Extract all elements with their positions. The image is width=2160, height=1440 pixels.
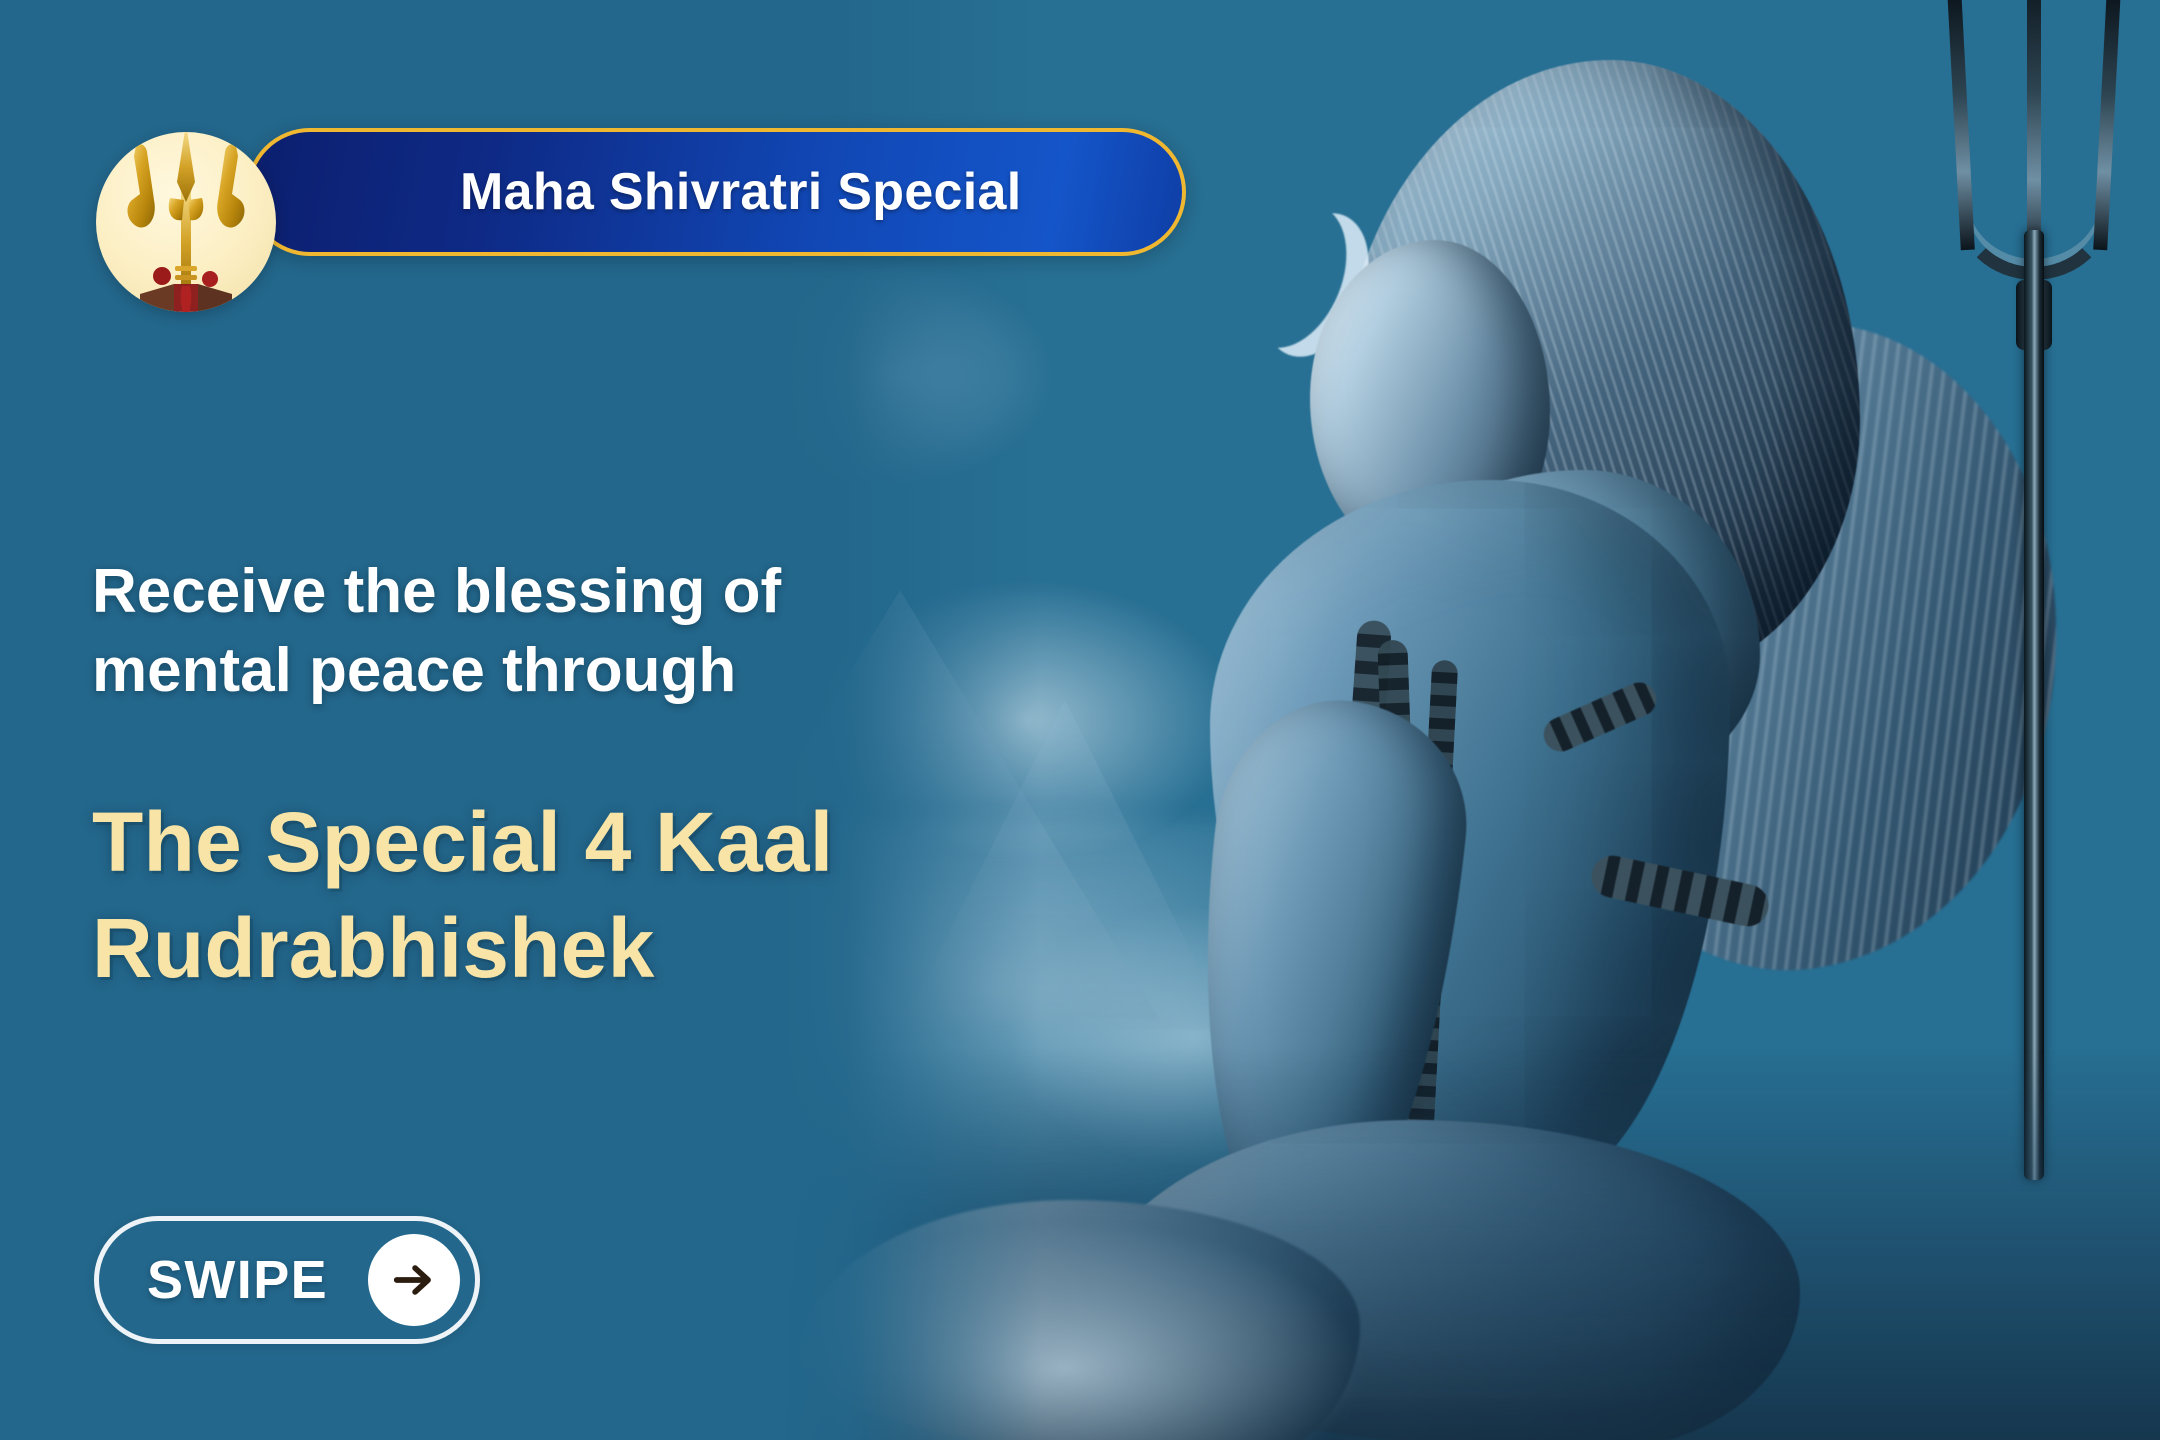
trishul-damru-icon bbox=[96, 132, 276, 312]
trishul-prong bbox=[1947, 0, 1975, 250]
trishul-shaft bbox=[2024, 230, 2044, 1180]
swipe-button-label: SWIPE bbox=[147, 1249, 328, 1311]
badge-label: Maha Shivratri Special bbox=[460, 162, 1022, 222]
kicker-line-2: mental peace through bbox=[92, 631, 972, 710]
headline-line-2: Rudrabhishek bbox=[92, 896, 1112, 1002]
trishul-prong bbox=[2093, 0, 2121, 250]
promo-banner: Maha Shivratri Special bbox=[0, 0, 2160, 1440]
trishul-icon bbox=[1920, 0, 2150, 1180]
kicker-line-1: Receive the blessing of bbox=[92, 552, 972, 631]
arrow-right-icon[interactable] bbox=[368, 1234, 460, 1326]
headline-line-1: The Special 4 Kaal bbox=[92, 790, 1112, 896]
headline-text: The Special 4 Kaal Rudrabhishek bbox=[92, 790, 1112, 1002]
badge-pill: Maha Shivratri Special bbox=[246, 128, 1186, 256]
kicker-text: Receive the blessing of mental peace thr… bbox=[92, 552, 972, 711]
swipe-button[interactable]: SWIPE bbox=[94, 1216, 480, 1344]
